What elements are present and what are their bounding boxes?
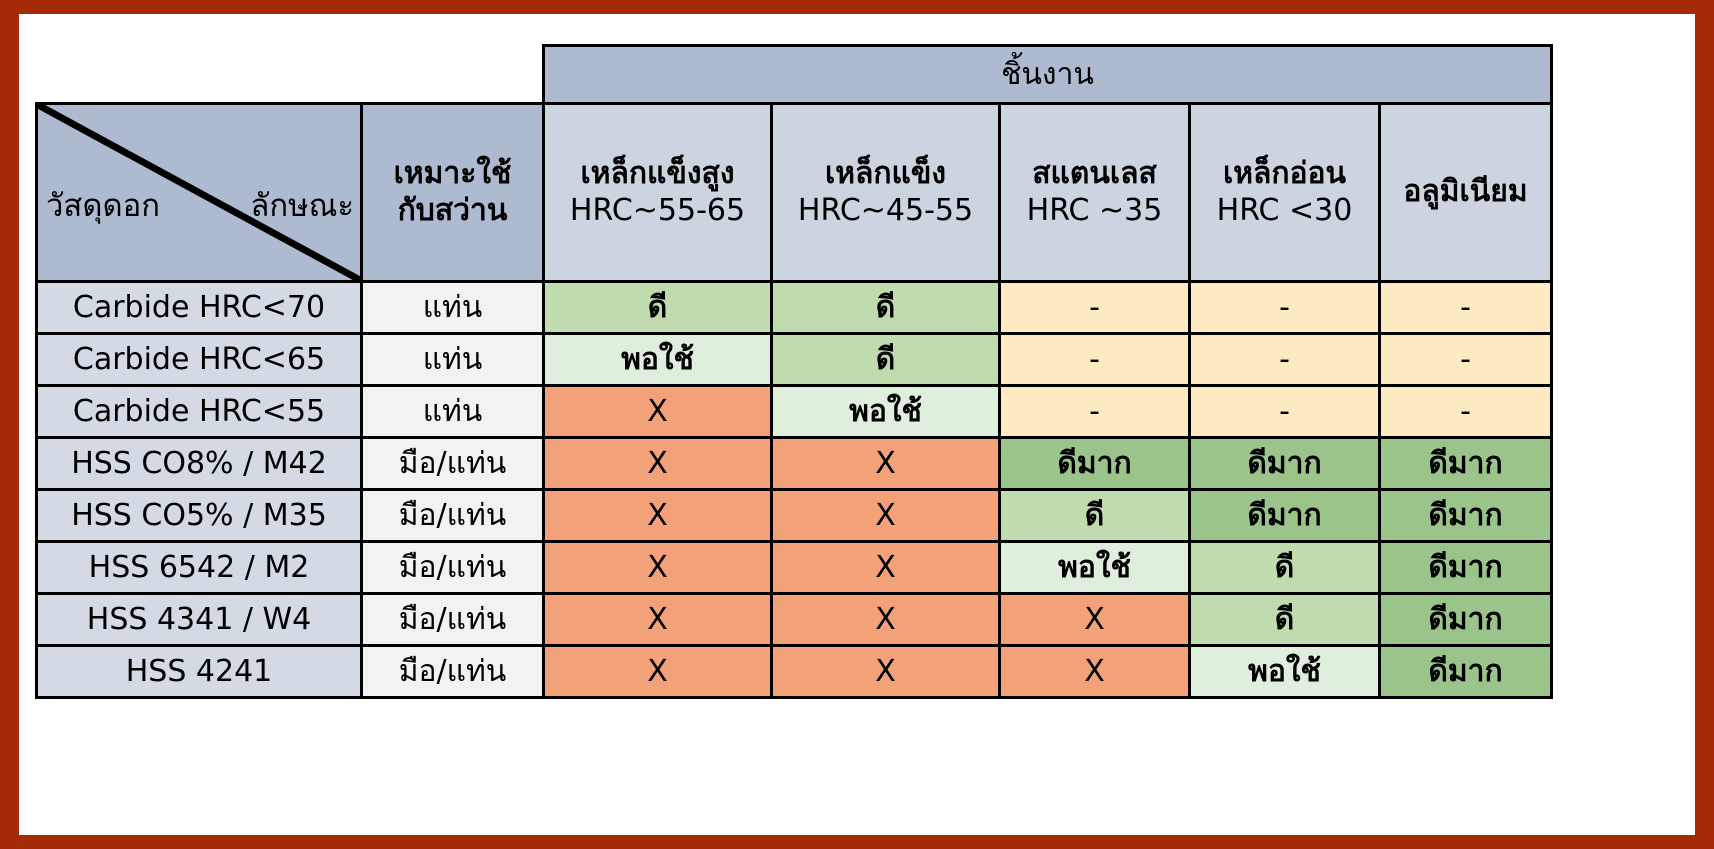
column-header-mild: เหล็กอ่อน HRC <30	[1190, 104, 1380, 282]
cell-rating-hard_hi: X	[544, 646, 772, 698]
table-row: HSS 6542 / M2มือ/แท่นXXพอใช้ดีดีมาก	[37, 542, 1552, 594]
drill-bit-compatibility-table: ชิ้นงาน วัสดุดอก ลักษณะ เหมาะใช้ กับสว่า…	[35, 44, 1553, 699]
column-header-mild-sub: HRC <30	[1191, 193, 1378, 230]
column-header-hard-title: เหล็กแข็ง	[773, 156, 998, 193]
cell-rating-hard: X	[772, 646, 1000, 698]
row-header-material: HSS 4341 / W4	[37, 594, 362, 646]
table-row: HSS 4341 / W4มือ/แท่นXXXดีดีมาก	[37, 594, 1552, 646]
axis-corner-cell: วัสดุดอก ลักษณะ	[37, 104, 362, 282]
table-body: Carbide HRC<70แท่นดีดี---Carbide HRC<65แ…	[37, 282, 1552, 698]
cell-rating-stainless: -	[1000, 386, 1190, 438]
cell-rating-hard: X	[772, 542, 1000, 594]
usage-spacer	[362, 46, 544, 104]
row-header-material: Carbide HRC<65	[37, 334, 362, 386]
cell-rating-hard: X	[772, 490, 1000, 542]
cell-usage: แท่น	[362, 282, 544, 334]
cell-rating-stainless: พอใช้	[1000, 542, 1190, 594]
cell-usage: มือ/แท่น	[362, 646, 544, 698]
cell-rating-hard: พอใช้	[772, 386, 1000, 438]
cell-rating-mild: ดีมาก	[1190, 490, 1380, 542]
row-header-material: Carbide HRC<70	[37, 282, 362, 334]
cell-rating-stainless: X	[1000, 594, 1190, 646]
column-header-stainless-sub: HRC ~35	[1001, 193, 1188, 230]
table-row: Carbide HRC<55แท่นXพอใช้---	[37, 386, 1552, 438]
column-header-stainless: สแตนเลส HRC ~35	[1000, 104, 1190, 282]
cell-rating-stainless: -	[1000, 334, 1190, 386]
cell-rating-hard_hi: X	[544, 594, 772, 646]
table-row: HSS 4241มือ/แท่นXXXพอใช้ดีมาก	[37, 646, 1552, 698]
column-header-aluminium: อลูมิเนียม	[1380, 104, 1552, 282]
corner-spacer	[37, 46, 362, 104]
cell-rating-mild: ดี	[1190, 542, 1380, 594]
column-header-hard: เหล็กแข็ง HRC~45-55	[772, 104, 1000, 282]
cell-rating-hard_hi: X	[544, 490, 772, 542]
cell-rating-hard: ดี	[772, 282, 1000, 334]
cell-rating-hard_hi: X	[544, 386, 772, 438]
cell-rating-alu: ดีมาก	[1380, 438, 1552, 490]
cell-rating-alu: -	[1380, 386, 1552, 438]
cell-usage: มือ/แท่น	[362, 542, 544, 594]
cell-rating-stainless: ดีมาก	[1000, 438, 1190, 490]
group-header-row: ชิ้นงาน	[37, 46, 1552, 104]
row-header-material: HSS 4241	[37, 646, 362, 698]
table-row: Carbide HRC<65แท่นพอใช้ดี---	[37, 334, 1552, 386]
column-header-usage-title: เหมาะใช้	[363, 156, 542, 193]
cell-rating-hard_hi: X	[544, 438, 772, 490]
column-header-mild-title: เหล็กอ่อน	[1191, 156, 1378, 193]
table-row: HSS CO5% / M35มือ/แท่นXXดีดีมากดีมาก	[37, 490, 1552, 542]
cell-rating-alu: ดีมาก	[1380, 594, 1552, 646]
table-row: Carbide HRC<70แท่นดีดี---	[37, 282, 1552, 334]
page-canvas: ชิ้นงาน วัสดุดอก ลักษณะ เหมาะใช้ กับสว่า…	[19, 14, 1695, 835]
table-header: ชิ้นงาน วัสดุดอก ลักษณะ เหมาะใช้ กับสว่า…	[37, 46, 1552, 282]
cell-rating-hard_hi: X	[544, 542, 772, 594]
row-axis-label: วัสดุดอก	[46, 180, 160, 230]
cell-rating-mild: พอใช้	[1190, 646, 1380, 698]
cell-rating-hard: X	[772, 438, 1000, 490]
cell-usage: มือ/แท่น	[362, 438, 544, 490]
column-header-stainless-title: สแตนเลส	[1001, 156, 1188, 193]
workpiece-group-header: ชิ้นงาน	[544, 46, 1552, 104]
cell-usage: มือ/แท่น	[362, 594, 544, 646]
cell-rating-hard_hi: ดี	[544, 282, 772, 334]
cell-usage: แท่น	[362, 386, 544, 438]
cell-rating-hard: ดี	[772, 334, 1000, 386]
cell-rating-alu: ดีมาก	[1380, 542, 1552, 594]
column-header-hard-sub: HRC~45-55	[773, 193, 998, 230]
cell-rating-stainless: X	[1000, 646, 1190, 698]
column-header-usage-sub: กับสว่าน	[363, 193, 542, 230]
cell-usage: มือ/แท่น	[362, 490, 544, 542]
column-header-usage: เหมาะใช้ กับสว่าน	[362, 104, 544, 282]
cell-rating-alu: ดีมาก	[1380, 646, 1552, 698]
cell-usage: แท่น	[362, 334, 544, 386]
cell-rating-mild: -	[1190, 386, 1380, 438]
cell-rating-mild: ดี	[1190, 594, 1380, 646]
row-header-material: Carbide HRC<55	[37, 386, 362, 438]
cell-rating-alu: ดีมาก	[1380, 490, 1552, 542]
column-header-hard-hi: เหล็กแข็งสูง HRC~55-65	[544, 104, 772, 282]
cell-rating-hard: X	[772, 594, 1000, 646]
column-header-row: วัสดุดอก ลักษณะ เหมาะใช้ กับสว่าน เหล็กแ…	[37, 104, 1552, 282]
row-header-material: HSS CO8% / M42	[37, 438, 362, 490]
cell-rating-mild: -	[1190, 282, 1380, 334]
cell-rating-alu: -	[1380, 334, 1552, 386]
column-header-aluminium-title: อลูมิเนียม	[1381, 174, 1550, 211]
cell-rating-stainless: ดี	[1000, 490, 1190, 542]
cell-rating-hard_hi: พอใช้	[544, 334, 772, 386]
compatibility-table-container: ชิ้นงาน วัสดุดอก ลักษณะ เหมาะใช้ กับสว่า…	[35, 44, 1553, 699]
cell-rating-mild: -	[1190, 334, 1380, 386]
column-header-hard-hi-title: เหล็กแข็งสูง	[545, 156, 770, 193]
cell-rating-alu: -	[1380, 282, 1552, 334]
table-row: HSS CO8% / M42มือ/แท่นXXดีมากดีมากดีมาก	[37, 438, 1552, 490]
cell-rating-mild: ดีมาก	[1190, 438, 1380, 490]
column-header-hard-hi-sub: HRC~55-65	[545, 193, 770, 230]
row-header-material: HSS 6542 / M2	[37, 542, 362, 594]
cell-rating-stainless: -	[1000, 282, 1190, 334]
row-header-material: HSS CO5% / M35	[37, 490, 362, 542]
column-axis-label: ลักษณะ	[250, 180, 354, 230]
